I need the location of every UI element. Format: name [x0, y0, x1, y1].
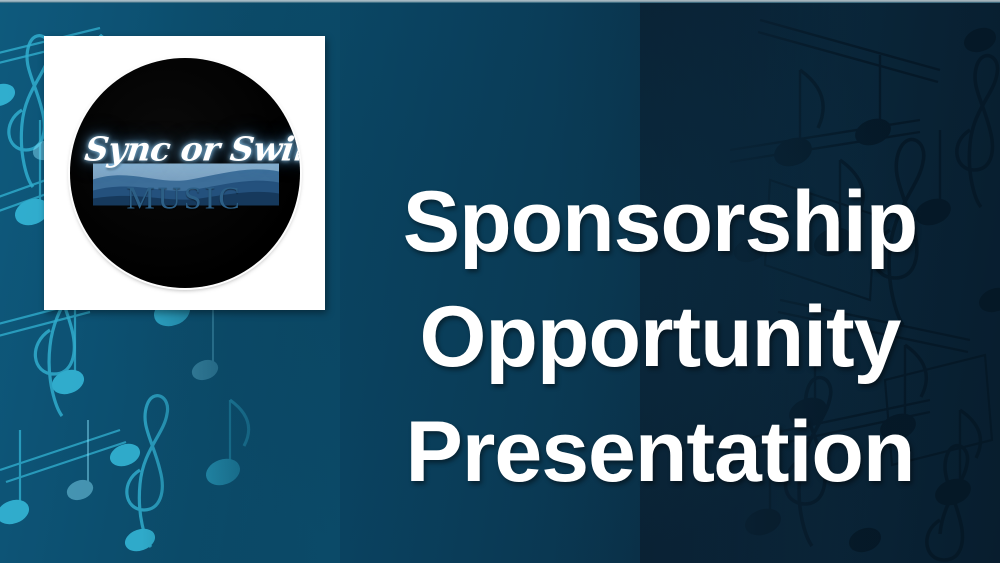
presentation-title-slide: Sync or Swim MUSIC Sponsorship Opportuni…	[0, 0, 1000, 563]
brand-script-text: Sync or Swim	[82, 130, 287, 169]
title-line-3: Presentation	[350, 395, 970, 510]
brand-logo-content: Sync or Swim MUSIC	[85, 130, 285, 217]
title-line-1: Sponsorship	[350, 165, 970, 280]
page-title: Sponsorship Opportunity Presentation	[350, 165, 970, 510]
brand-logo-disc: Sync or Swim MUSIC	[70, 58, 300, 288]
slide-top-border	[0, 0, 1000, 3]
brand-logo-card: Sync or Swim MUSIC	[44, 36, 325, 310]
title-line-2: Opportunity	[350, 280, 970, 395]
brand-wordmark: MUSIC	[85, 180, 285, 217]
